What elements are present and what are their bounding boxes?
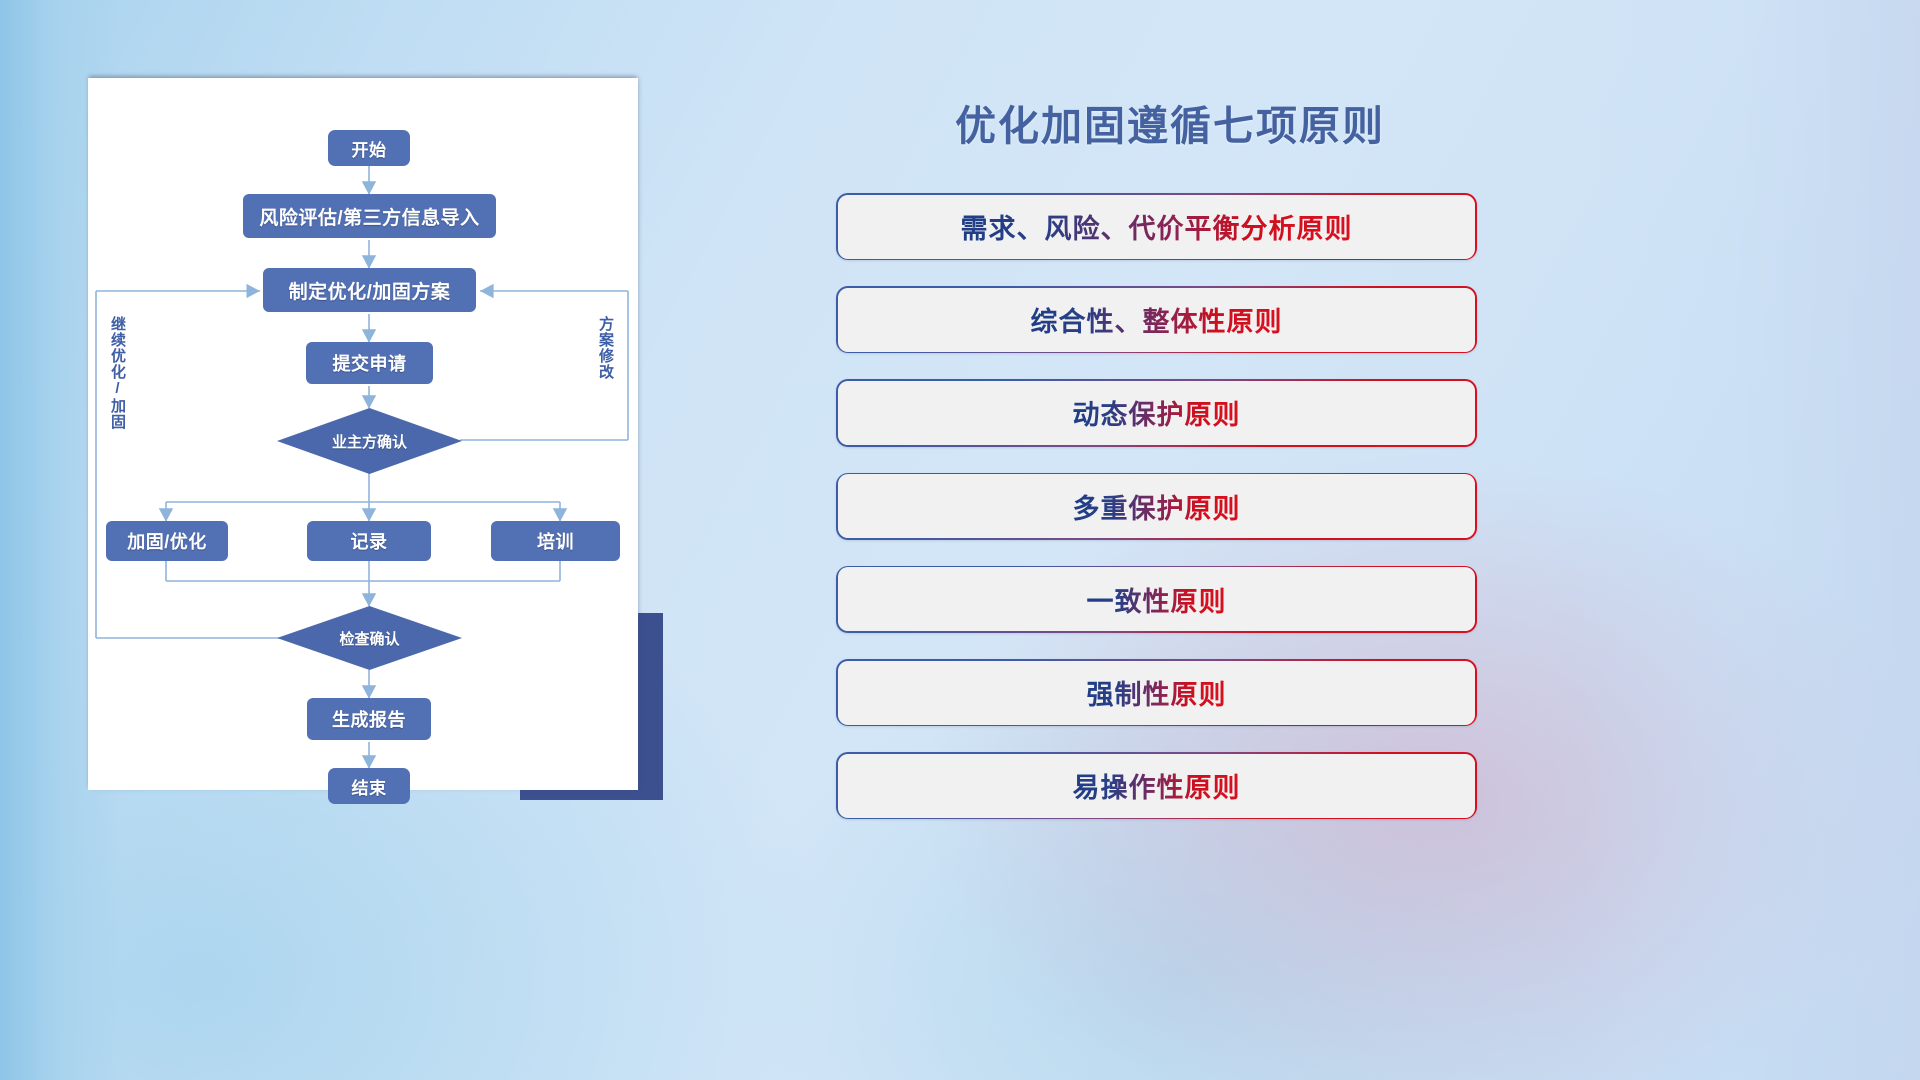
principle-card-5[interactable]: 一致性原则 <box>836 566 1477 633</box>
principle-label: 一致性原则 <box>1087 580 1227 619</box>
flow-node-reinforce[interactable]: 加固/优化 <box>106 521 228 561</box>
principle-card-inner: 多重保护原则 <box>838 474 1476 538</box>
principles-list: 需求、风险、代价平衡分析原则 综合性、整体性原则 动态保护原则 多重保护原则 一… <box>836 193 1477 845</box>
principle-card-1[interactable]: 需求、风险、代价平衡分析原则 <box>836 193 1477 260</box>
principle-card-2[interactable]: 综合性、整体性原则 <box>836 286 1477 353</box>
principle-label: 易操作性原则 <box>1073 766 1241 805</box>
flow-node-label: 开始 <box>352 136 387 161</box>
principle-label: 需求、风险、代价平衡分析原则 <box>961 207 1353 246</box>
flow-node-label: 记录 <box>351 528 388 554</box>
principle-card-inner: 动态保护原则 <box>838 381 1476 445</box>
principle-label: 动态保护原则 <box>1073 393 1241 432</box>
flow-node-submit[interactable]: 提交申请 <box>306 342 433 384</box>
page-title: 优化加固遵循七项原则 <box>820 92 1520 152</box>
flow-edge-label-left-loop: 继续优化/加固 <box>110 316 125 430</box>
principle-card-6[interactable]: 强制性原则 <box>836 659 1477 726</box>
principle-card-3[interactable]: 动态保护原则 <box>836 379 1477 446</box>
flow-node-label: 加固/优化 <box>127 528 207 554</box>
principle-card-4[interactable]: 多重保护原则 <box>836 473 1477 540</box>
flow-node-label: 生成报告 <box>332 706 406 732</box>
flow-node-plan[interactable]: 制定优化/加固方案 <box>263 268 476 312</box>
principle-card-inner: 易操作性原则 <box>838 754 1476 818</box>
principle-card-inner: 综合性、整体性原则 <box>838 288 1476 352</box>
principle-card-inner: 强制性原则 <box>838 661 1476 725</box>
flow-decision-label: 检查确认 <box>339 628 399 649</box>
flow-node-record[interactable]: 记录 <box>307 521 431 561</box>
flow-node-start[interactable]: 开始 <box>328 130 410 166</box>
flow-node-label: 制定优化/加固方案 <box>289 277 451 304</box>
principle-card-inner: 需求、风险、代价平衡分析原则 <box>838 195 1476 259</box>
principle-label: 强制性原则 <box>1087 673 1227 712</box>
flow-edge-label-right-loop: 方案修改 <box>598 316 613 380</box>
principle-label: 综合性、整体性原则 <box>1031 300 1283 339</box>
flow-node-label: 结束 <box>352 774 387 799</box>
principle-label: 多重保护原则 <box>1073 487 1241 526</box>
flow-node-risk-assessment[interactable]: 风险评估/第三方信息导入 <box>243 194 496 238</box>
flow-node-end[interactable]: 结束 <box>328 768 410 804</box>
flow-node-training[interactable]: 培训 <box>491 521 620 561</box>
slide-canvas: 开始 风险评估/第三方信息导入 制定优化/加固方案 提交申请 业主方确认 加固/… <box>0 0 1920 1080</box>
flow-decision-label: 业主方确认 <box>332 431 407 452</box>
flow-node-label: 风险评估/第三方信息导入 <box>259 203 479 230</box>
flow-node-report[interactable]: 生成报告 <box>307 698 431 740</box>
flowchart-card: 开始 风险评估/第三方信息导入 制定优化/加固方案 提交申请 业主方确认 加固/… <box>88 78 638 790</box>
principle-card-7[interactable]: 易操作性原则 <box>836 752 1477 819</box>
flow-node-label: 提交申请 <box>333 350 407 376</box>
flow-node-label: 培训 <box>537 528 574 554</box>
principle-card-inner: 一致性原则 <box>838 567 1476 631</box>
